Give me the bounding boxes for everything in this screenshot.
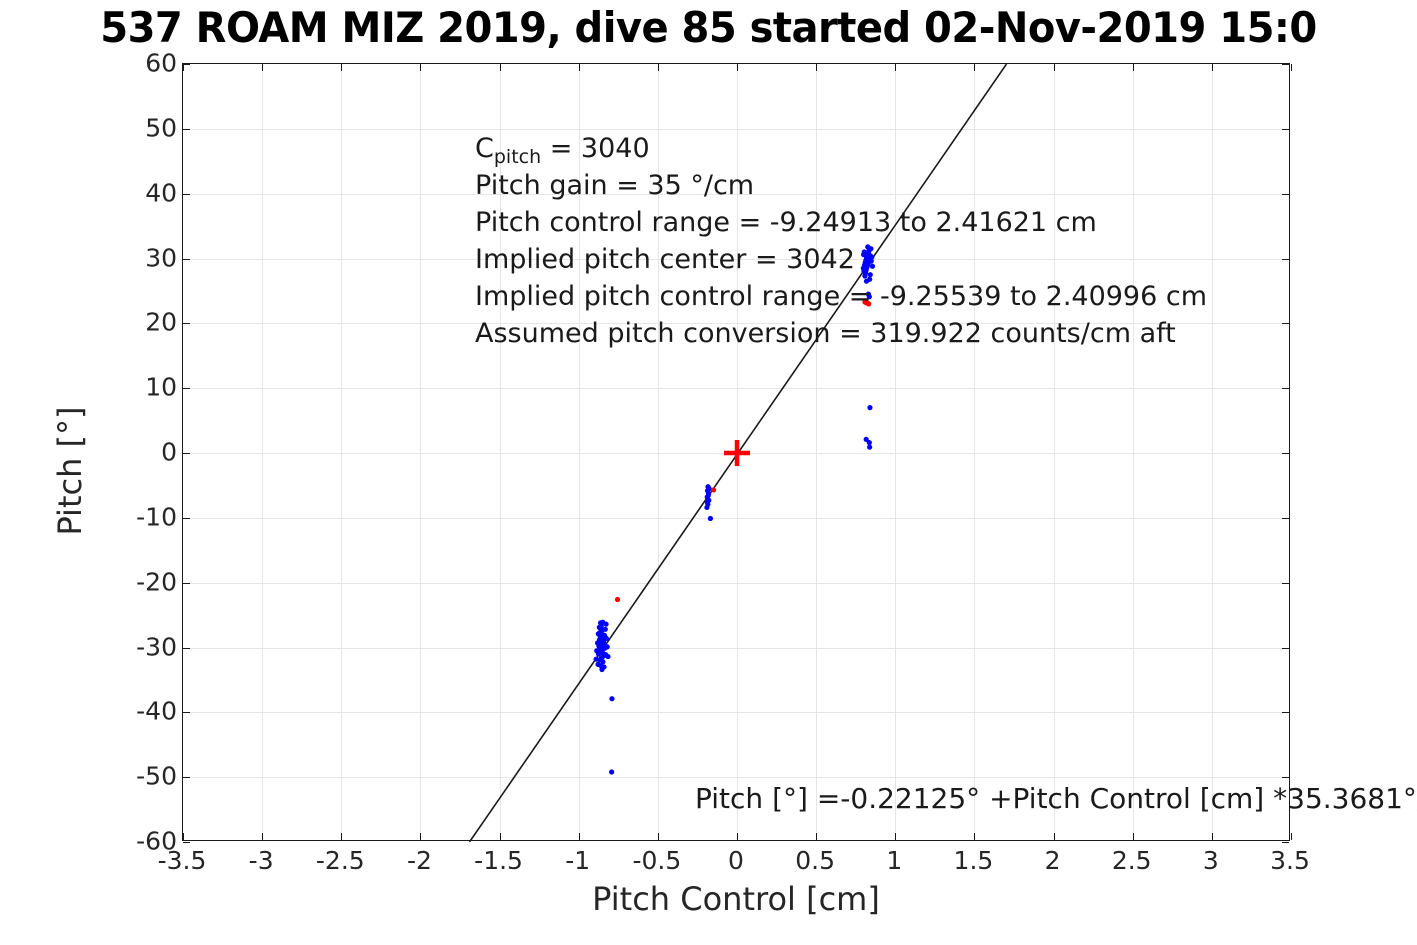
x-tick-label: 0.5 [795,846,835,875]
y-tick-label: 30 [145,243,177,272]
data-point [609,696,614,701]
data-point [867,445,872,450]
data-point [867,405,872,410]
x-tick-label: 1 [886,846,902,875]
x-tick-label: -1.5 [474,846,523,875]
x-tick-label: 2.5 [1112,846,1152,875]
x-tick-label: -0.5 [632,846,681,875]
annotation-block: Cpitch = 3040 Pitch gain = 35 °/cm Pitch… [475,130,1207,352]
data-point [600,651,605,656]
data-point [603,635,608,640]
annotation-line-control-range: Pitch control range = -9.24913 to 2.4162… [475,204,1207,241]
annotation-cpitch-prefix: C [475,133,494,164]
data-point [600,620,605,625]
y-tick-label: 60 [145,49,177,78]
data-point [706,493,711,498]
x-tick-label: -2 [407,846,432,875]
page-title: 537 ROAM MIZ 2019, dive 85 started 02-No… [0,2,1417,54]
x-axis-title: Pitch Control [cm] [182,880,1290,918]
data-point [705,500,710,505]
data-point [598,663,603,668]
x-tick-label: 0 [728,846,744,875]
data-point [707,486,712,491]
data-point [602,642,607,647]
data-point [708,516,713,521]
y-tick-label: -40 [136,697,177,726]
y-tick-mark [183,842,190,843]
data-point [609,769,614,774]
annotation-line-implied-range: Implied pitch control range = -9.25539 t… [475,278,1207,315]
data-point [596,631,601,636]
y-tick-mark [1282,842,1289,843]
plot-axes: Cpitch = 3040 Pitch gain = 35 °/cm Pitch… [182,63,1290,841]
y-tick-label: 0 [161,438,177,467]
annotation-line-cpitch: Cpitch = 3040 [475,130,1207,167]
x-tick-mark [1291,833,1292,840]
annotation-cpitch-subscript: pitch [494,146,541,168]
data-point [595,640,600,645]
y-tick-label: 40 [145,178,177,207]
x-tick-label: 1.5 [954,846,994,875]
data-point [711,487,716,492]
fit-equation-label: Pitch [°] =-0.22125° +Pitch Control [cm]… [695,782,1417,815]
x-tick-label: 3.5 [1270,846,1310,875]
annotation-cpitch-value: = 3040 [541,133,650,164]
data-point [867,440,872,445]
y-tick-label: -60 [136,827,177,856]
annotation-line-implied-center: Implied pitch center = 3042 [475,241,1207,278]
y-tick-label: -10 [136,502,177,531]
x-tick-label: 3 [1203,846,1219,875]
data-point [605,654,610,659]
x-tick-label: -2.5 [316,846,365,875]
y-tick-label: 20 [145,308,177,337]
y-tick-label: -20 [136,567,177,596]
y-tick-label: 10 [145,373,177,402]
x-tick-label: -3 [249,846,274,875]
x-tick-mark [1291,64,1292,71]
center-marker [724,440,750,466]
data-point [615,597,620,602]
y-tick-label: -30 [136,632,177,661]
x-tick-label: -1 [565,846,590,875]
data-point [594,657,599,662]
annotation-line-pitch-gain: Pitch gain = 35 °/cm [475,167,1207,204]
x-tick-label: 2 [1045,846,1061,875]
data-point [704,505,709,510]
data-point [597,625,602,630]
y-tick-label: 50 [145,113,177,142]
data-point [603,627,608,632]
y-axis-title: Pitch [°] [51,341,89,601]
y-tick-label: -50 [136,762,177,791]
data-point [594,648,599,653]
annotation-line-conversion: Assumed pitch conversion = 319.922 count… [475,315,1207,352]
